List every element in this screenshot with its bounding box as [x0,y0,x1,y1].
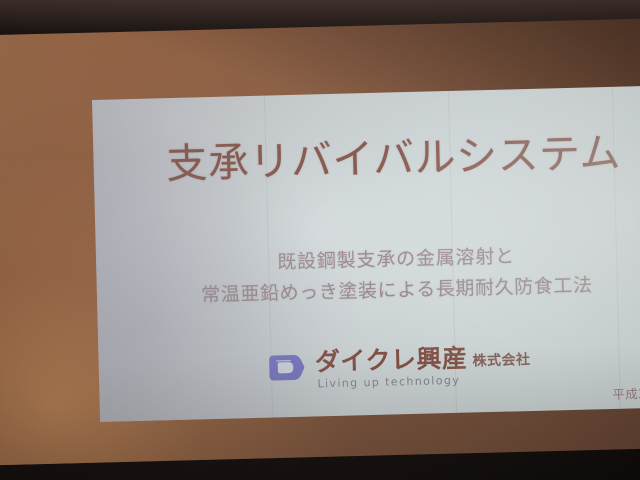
logo-name-row: ダイクレ興産 株式会社 [315,344,531,374]
projection-screen: 支承リバイバルシステム 既設鋼製支承の金属溶射と 常温亜鉛めっき塗装による長期耐… [92,85,640,422]
slide-title: 支承リバイバルシステム [93,129,640,190]
logo-tagline: Living up technology [317,375,460,390]
company-logo-lockup: ダイクレ興産 株式会社 Living up technology [98,340,640,395]
slide-footnote: 平成27年度改 [612,382,640,403]
slide-content: 支承リバイバルシステム 既設鋼製支承の金属溶射と 常温亜鉛めっき塗装による長期耐… [92,85,640,422]
logo-company-suffix: 株式会社 [472,353,530,370]
logo-company-name: ダイクレ興産 [315,346,468,375]
slide-subtitle: 既設鋼製支承の金属溶射と 常温亜鉛めっき塗装による長期耐久防食工法 [96,237,640,314]
projected-slide-photo: 支承リバイバルシステム 既設鋼製支承の金属溶射と 常温亜鉛めっき塗装による長期耐… [0,0,640,480]
logo-text-block: ダイクレ興産 株式会社 Living up technology [315,344,531,389]
daikure-logo-icon [267,351,308,383]
